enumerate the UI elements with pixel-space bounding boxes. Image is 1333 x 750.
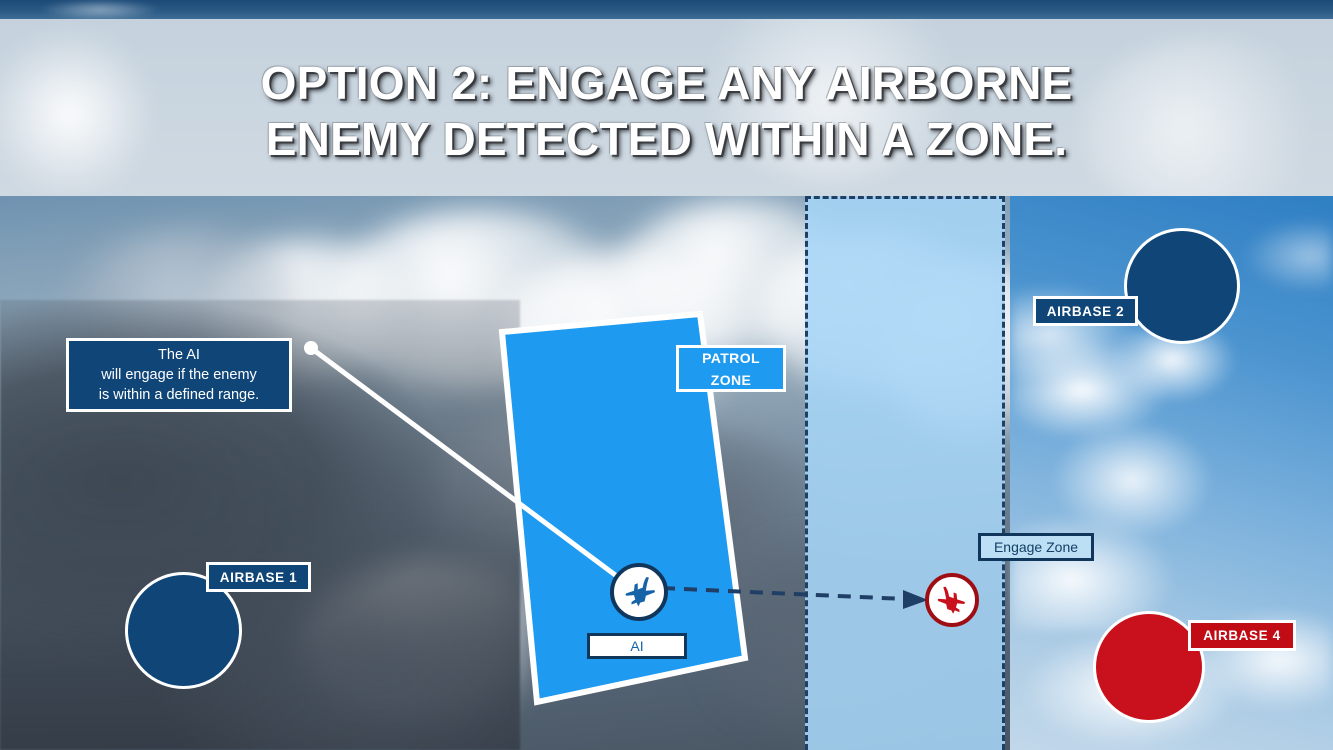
slide-title: OPTION 2: ENGAGE ANY AIRBORNE ENEMY DETE… [0,19,1333,196]
airbase-2-label-text: AIRBASE 2 [1047,304,1124,319]
airbase-1-label-text: AIRBASE 1 [220,570,297,585]
engage-arrow [660,575,940,625]
ai-engage-callout: The AI will engage if the enemy is withi… [66,338,292,412]
airbase-4-label-text: AIRBASE 4 [1203,628,1280,643]
enemy-aircraft-badge[interactable] [925,573,979,627]
callout-line-3: is within a defined range. [99,385,259,405]
title-line-1: OPTION 2: ENGAGE ANY AIRBORNE [261,55,1073,111]
slide-canvas: OPTION 2: ENGAGE ANY AIRBORNE ENEMY DETE… [0,0,1333,750]
cloud-decoration [1012,330,1272,630]
engage-zone-rectangle[interactable] [805,196,1005,750]
patrol-zone-label-line-2: ZONE [711,369,752,391]
patrol-zone-label-line-1: PATROL [702,347,760,369]
callout-leader-line [300,338,650,608]
top-accent-band [0,0,1333,19]
airbase-4-label[interactable]: AIRBASE 4 [1188,620,1296,651]
ai-aircraft-label-text: AI [630,638,643,654]
patrol-zone-label[interactable]: PATROL ZONE [676,345,786,392]
fighter-jet-icon [934,582,971,619]
ai-aircraft-badge[interactable] [610,563,668,621]
title-line-2: ENEMY DETECTED WITHIN A ZONE. [266,111,1067,167]
fighter-jet-icon [619,572,659,612]
ai-aircraft-label[interactable]: AI [587,633,687,659]
engage-zone-label-text: Engage Zone [994,539,1078,555]
callout-line-1: The AI [158,345,200,365]
engage-zone-label[interactable]: Engage Zone [978,533,1094,561]
airbase-1-label[interactable]: AIRBASE 1 [206,562,311,592]
airbase-2-circle[interactable] [1124,228,1240,344]
airbase-2-label[interactable]: AIRBASE 2 [1033,296,1138,326]
callout-line-2: will engage if the enemy [101,365,257,385]
